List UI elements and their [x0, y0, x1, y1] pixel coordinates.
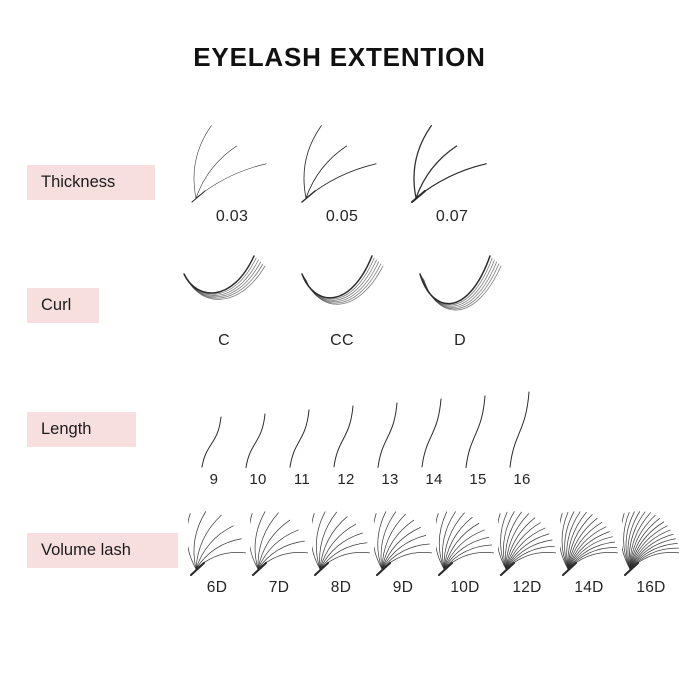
lash-art	[284, 406, 320, 471]
lash-art	[188, 495, 246, 579]
length-sample: 12	[328, 402, 364, 488]
lash-art	[504, 388, 540, 471]
lash-art	[294, 248, 390, 328]
length-caption: 11	[294, 471, 310, 488]
lash-art	[460, 392, 496, 472]
length-sample: 15	[460, 392, 496, 489]
volume-sample: 8D	[312, 495, 370, 597]
row-curl: Curl CCCD	[0, 248, 679, 358]
lash-art	[176, 248, 272, 328]
row-label-length: Length	[27, 412, 136, 447]
length-sample: 11	[284, 406, 320, 488]
length-caption: 13	[381, 471, 398, 488]
volume-caption: 10D	[450, 579, 479, 597]
row-thickness: Thickness 0.030.050.07	[0, 120, 679, 230]
lash-art	[186, 120, 278, 206]
length-sample: 10	[240, 410, 276, 489]
length-caption: 14	[425, 471, 442, 488]
lash-art	[196, 413, 232, 471]
lash-art	[374, 495, 432, 579]
volume-sample: 9D	[374, 495, 432, 597]
lash-art	[250, 495, 308, 579]
thickness-sample: 0.07	[406, 120, 498, 226]
volume-sample: 10D	[436, 495, 494, 597]
lash-art	[622, 495, 679, 579]
row-volume: Volume lash 6D7D8D9D10D12D14D16D	[0, 495, 679, 603]
length-caption: 9	[210, 471, 219, 488]
length-caption: 15	[469, 471, 486, 488]
lash-art	[436, 495, 494, 579]
eyelash-extension-chart: EYELASH EXTENTION Thickness 0.030.050.07…	[0, 0, 679, 679]
length-sample: 16	[504, 388, 540, 488]
lash-art	[372, 399, 408, 471]
thickness-sample: 0.03	[186, 120, 278, 226]
volume-caption: 8D	[331, 579, 351, 597]
lash-art	[406, 120, 498, 206]
volume-caption: 6D	[207, 579, 227, 597]
thickness-samples: 0.030.050.07	[186, 120, 498, 226]
row-label-volume: Volume lash	[27, 533, 178, 568]
volume-caption: 14D	[574, 579, 603, 597]
volume-samples: 6D7D8D9D10D12D14D16D	[188, 495, 679, 597]
length-sample: 13	[372, 399, 408, 488]
thickness-caption: 0.05	[326, 208, 358, 226]
lash-art	[498, 495, 556, 579]
volume-sample: 6D	[188, 495, 246, 597]
thickness-caption: 0.03	[216, 208, 248, 226]
length-samples: 910111213141516	[196, 388, 540, 488]
row-label-thickness: Thickness	[27, 165, 155, 200]
volume-caption: 7D	[269, 579, 289, 597]
length-caption: 12	[337, 471, 354, 488]
curl-caption: CC	[330, 332, 354, 350]
lash-art	[416, 395, 452, 471]
volume-caption: 9D	[393, 579, 413, 597]
volume-sample: 16D	[622, 495, 679, 597]
curl-sample: CC	[294, 248, 390, 350]
volume-sample: 7D	[250, 495, 308, 597]
lash-art	[328, 402, 364, 471]
length-sample: 14	[416, 395, 452, 488]
lash-art	[240, 410, 276, 472]
row-length: Length 910111213141516	[0, 388, 679, 480]
length-caption: 16	[513, 471, 530, 488]
thickness-caption: 0.07	[436, 208, 468, 226]
thickness-sample: 0.05	[296, 120, 388, 226]
curl-caption: D	[454, 332, 466, 350]
row-label-curl: Curl	[27, 288, 99, 323]
volume-sample: 12D	[498, 495, 556, 597]
curl-samples: CCCD	[176, 248, 508, 350]
length-sample: 9	[196, 413, 232, 488]
lash-art	[296, 120, 388, 206]
lash-art	[412, 248, 508, 328]
curl-sample: D	[412, 248, 508, 350]
page-title: EYELASH EXTENTION	[0, 42, 679, 73]
volume-sample: 14D	[560, 495, 618, 597]
curl-caption: C	[218, 332, 230, 350]
curl-sample: C	[176, 248, 272, 350]
volume-caption: 12D	[512, 579, 541, 597]
lash-art	[312, 495, 370, 579]
lash-art	[560, 495, 618, 579]
length-caption: 10	[249, 471, 266, 488]
volume-caption: 16D	[636, 579, 665, 597]
